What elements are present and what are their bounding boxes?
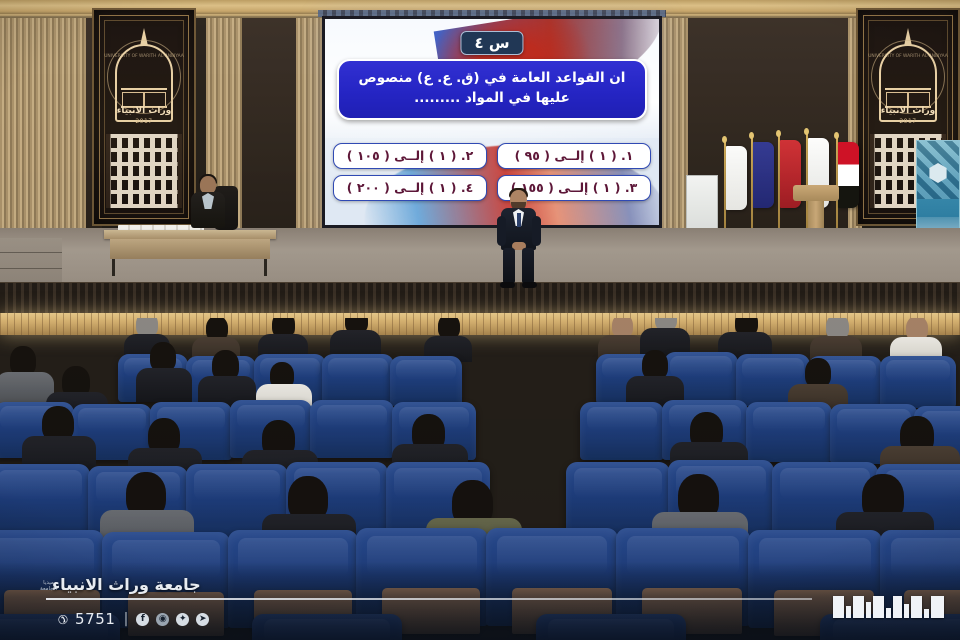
presenter-left-arm: [497, 216, 506, 246]
desk-front-panel: [110, 239, 270, 259]
seat[interactable]: [880, 356, 956, 408]
emblem-english-text: UNIVERSITY OF WARITH AL-ANBIYAA: [104, 54, 184, 59]
flag-finial-3: [776, 130, 781, 137]
person-seated-moderator: [188, 176, 228, 238]
seat[interactable]: [536, 614, 686, 640]
auditorium-room: UNIVERSITY OF WARITH AL-ANBIYAA وراث الا…: [0, 0, 960, 640]
twitter-icon[interactable]: ✦: [176, 613, 189, 626]
university-name: جامعة وراث الانبياء: [52, 575, 201, 594]
answer-option-2[interactable]: ٢. ( ١ ) إلــى ( ١٠٥ ): [333, 143, 487, 169]
emblem-open-book-icon: [121, 88, 167, 108]
contact-bar: ✆ 5751 | f ◉ ✦ ➤: [56, 610, 209, 628]
instagram-icon[interactable]: ◉: [156, 613, 169, 626]
audience-shoulders: [136, 368, 192, 402]
presenter-shoe-left: [500, 282, 515, 288]
telegram-icon[interactable]: ➤: [196, 613, 209, 626]
emblem-kufic-pattern: [106, 134, 182, 208]
stage-front-slats: [0, 282, 960, 316]
phone-number[interactable]: 5751: [75, 610, 116, 628]
presenter-right-arm: [532, 216, 541, 246]
question-number-badge: س ٤: [460, 31, 523, 55]
person-presenter: [492, 190, 546, 288]
seat[interactable]: [746, 402, 832, 462]
answer-option-1[interactable]: ١. ( ١ ) إلــى ( ٩٥ ): [497, 143, 651, 169]
seat[interactable]: [390, 356, 462, 406]
answer-option-4[interactable]: ٤. ( ١ ) إلــى ( ٢٠٠ ): [333, 175, 487, 201]
emblem-english-text: UNIVERSITY OF WARITH AL-ANBIYAA: [868, 54, 948, 59]
flag-1-white: [726, 146, 747, 210]
phone-icon: ✆: [56, 613, 68, 625]
emblem-arabic-text: وراث الانبياء: [881, 106, 936, 116]
presenter-tie: [517, 213, 521, 227]
seat[interactable]: [580, 402, 664, 460]
emblem-open-book-icon: [885, 88, 931, 108]
flag-finial-2: [749, 132, 754, 139]
media-seal-icon: ميدياالجامعة: [40, 581, 57, 593]
wall-emblem-panel-left: UNIVERSITY OF WARITH AL-ANBIYAA وراث الا…: [92, 8, 196, 226]
seat[interactable]: [0, 464, 90, 538]
emblem-year: 2017: [899, 118, 916, 125]
branding-divider-rule: [46, 598, 812, 600]
question-text: ان القواعد العامة في (ق. ع. ع) منصوص علي…: [337, 59, 647, 120]
seat[interactable]: [322, 354, 394, 404]
podium-top: [793, 185, 839, 201]
facebook-icon[interactable]: f: [136, 613, 149, 626]
kufic-logo: [833, 592, 944, 618]
seat[interactable]: [310, 400, 394, 458]
presenter-shoe-right: [522, 282, 537, 288]
screenshot-root: UNIVERSITY OF WARITH AL-ANBIYAA وراث الا…: [0, 0, 960, 640]
flag-finial-4: [804, 128, 809, 135]
flag-5-iraq: [838, 142, 859, 208]
seat[interactable]: [252, 614, 402, 640]
contact-separator: |: [124, 611, 129, 627]
flag-2-blue: [753, 142, 774, 208]
emblem-year: 2017: [135, 118, 152, 125]
emblem-arabic-text: وراث الانبياء: [117, 106, 172, 116]
flag-finial-5: [834, 132, 839, 139]
presenter-legs: [503, 248, 534, 284]
flag-finial-1: [722, 136, 727, 143]
